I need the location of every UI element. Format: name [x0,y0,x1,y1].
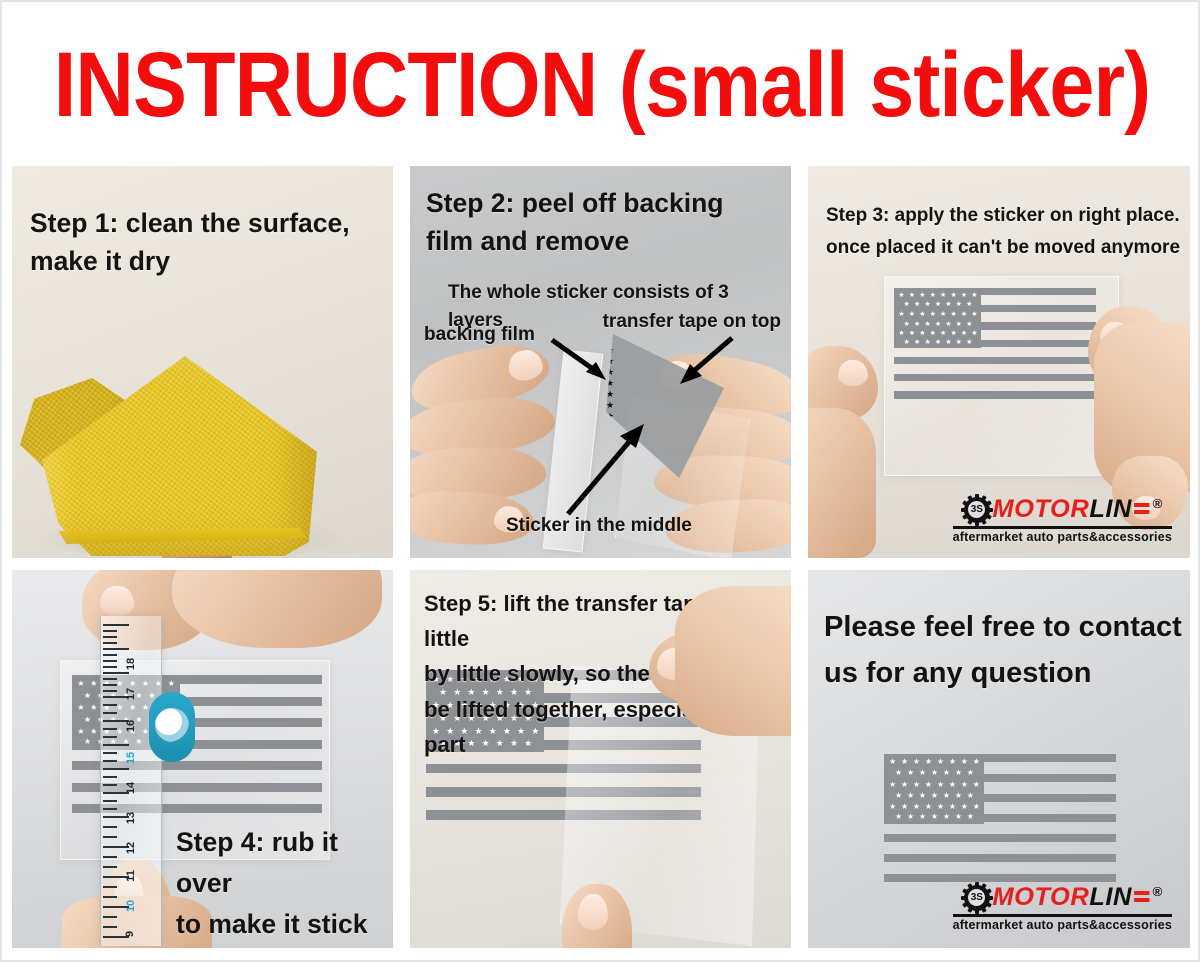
wordmark-lin: LIN [1089,883,1132,912]
logo-wordmark-row: 3S MOTORLIN ® [964,883,1161,912]
hand-body [675,586,791,736]
panel-step-5: Step 5: lift the transfer tape on top li… [410,570,791,948]
arrow-backing-film [550,338,614,386]
fingernail [100,586,134,616]
panel-contact-caption: Please feel free to contact us for any q… [824,604,1184,697]
gear-icon: 3S [964,885,990,911]
gear-icon: 3S [964,497,990,523]
ruler-number-12: 12 [125,842,137,854]
ruler-number-17: 17 [125,688,137,700]
wordmark-motor: MOTOR [992,495,1089,524]
arrow-sticker-middle [562,418,648,518]
instruction-sheet: INSTRUCTION (small sticker) Step 1: clea… [0,0,1200,962]
ruler-number-14: 14 [125,782,137,794]
panel-step-4: ★★★★★★★★ ★★★★★★★ ★★★★★★★★ ★★★★★★★ ★★★★★★… [12,570,393,948]
ruler-number-13: 13 [125,812,137,824]
ruler-number-10: 10 [125,900,137,912]
page-title: INSTRUCTION (small sticker) [54,39,1150,131]
logo-divider [953,914,1172,917]
ruler-sticker-decal [149,692,195,762]
fish-icon [155,708,189,742]
lower-hand [552,884,662,948]
panel-step-3: Step 3: apply the sticker on right place… [808,166,1190,558]
logo-divider [953,526,1172,529]
sheet-title-bar: INSTRUCTION (small sticker) [2,30,1200,140]
hand-body [808,408,876,558]
motorline-logo: 3S MOTORLIN ® aftermarket auto parts&acc… [949,881,1176,934]
instruction-panel-grid: Step 1: clean the surface, make it dry S… [12,166,1192,948]
ruler-number-16: 16 [125,720,137,732]
logo-wordmark-row: 3S MOTORLIN ® [964,495,1161,524]
panel-step-1-caption: Step 1: clean the surface, make it dry [30,204,380,281]
logo-tagline: aftermarket auto parts&accessories [953,530,1172,544]
hand-body [172,570,382,648]
finger [562,884,632,948]
equal-mark-icon [1134,891,1149,902]
equal-mark-icon [1134,503,1149,514]
panel-step-1: Step 1: clean the surface, make it dry [12,166,393,558]
registered-mark: ® [1152,496,1162,511]
arrow-transfer-tape [672,336,736,388]
ruler-number-15: 15 [125,752,137,764]
panel-step-2-caption: Step 2: peel off backing film and remove [426,184,776,261]
ruler-number-9: 9 [124,931,136,937]
right-hand [621,592,791,752]
motorline-logo: 3S MOTORLIN ® aftermarket auto parts&acc… [949,493,1176,546]
annotation-transfer-tape: transfer tape on top [603,308,781,336]
panel-step-4-caption: Step 4: rub it over to make it stick com… [176,822,393,948]
wordmark: MOTORLIN ® [992,495,1162,524]
left-hand [808,346,900,546]
logo-tagline: aftermarket auto parts&accessories [953,918,1172,932]
panel-step-2: Step 2: peel off backing film and remove… [410,166,791,558]
usa-flag-sticker: ★★★★★★★★ ★★★★★★★ ★★★★★★★★ ★★★★★★★ ★★★★★★… [884,754,1116,884]
ruler: 18 17 16 15 14 13 12 11 10 9 [100,616,162,946]
ruler-number-11: 11 [125,870,137,882]
fingernail [578,894,608,930]
fingernail [838,360,868,386]
registered-mark: ® [1152,884,1162,899]
panel-contact: Please feel free to contact us for any q… [808,570,1190,948]
wordmark: MOTORLIN ® [992,883,1162,912]
wordmark-lin: LIN [1089,495,1132,524]
annotation-backing-film: backing film [424,321,535,349]
panel-step-3-caption: Step 3: apply the sticker on right place… [826,200,1186,265]
wordmark-motor: MOTOR [992,883,1089,912]
ruler-number-18: 18 [125,658,137,670]
fingernail [506,347,545,383]
